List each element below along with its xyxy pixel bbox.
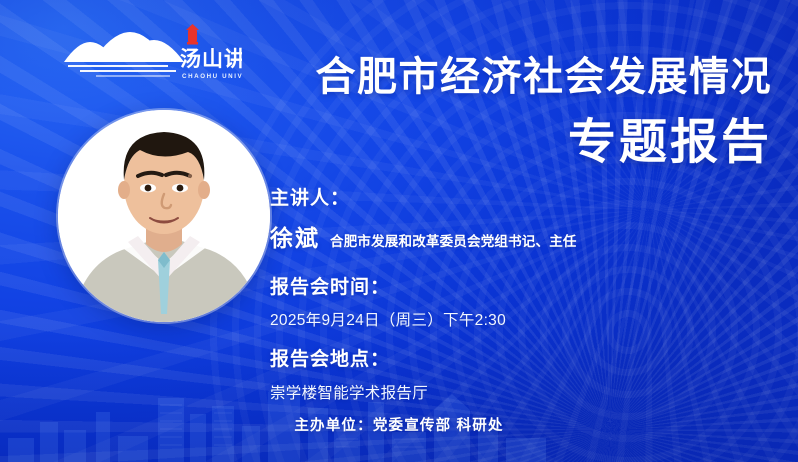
red-pagoda-icon <box>186 24 199 45</box>
place-value: 崇学楼智能学术报告厅 <box>270 381 770 403</box>
organizers-footer: 主办单位：党委宣传部 科研处 <box>0 414 798 435</box>
page-title-line-1: 合肥市经济社会发展情况 <box>212 56 772 98</box>
time-value: 2025年9月24日（周三）下午2:30 <box>270 308 770 330</box>
speaker-label: 主讲人： <box>270 186 770 212</box>
page-title-line-2: 专题报告 <box>212 118 772 168</box>
spacer-2 <box>270 330 770 347</box>
place-label: 报告会地点： <box>270 347 770 373</box>
poster-title-block: 合肥市经济社会发展情况 专题报告 <box>212 56 772 168</box>
poster-canvas: 汤山讲坛 CHAOHU UNIVERSITY <box>0 0 798 462</box>
speaker-name: 徐斌 <box>270 219 320 253</box>
spacer-1 <box>270 253 770 275</box>
time-label: 报告会时间： <box>270 275 770 301</box>
speaker-row: 徐斌 合肥市发展和改革委员会党组书记、主任 <box>270 219 770 253</box>
speaker-position: 合肥市发展和改革委员会党组书记、主任 <box>330 230 577 250</box>
event-details-block: 主讲人： 徐斌 合肥市发展和改革委员会党组书记、主任 报告会时间： 2025年9… <box>270 186 770 403</box>
